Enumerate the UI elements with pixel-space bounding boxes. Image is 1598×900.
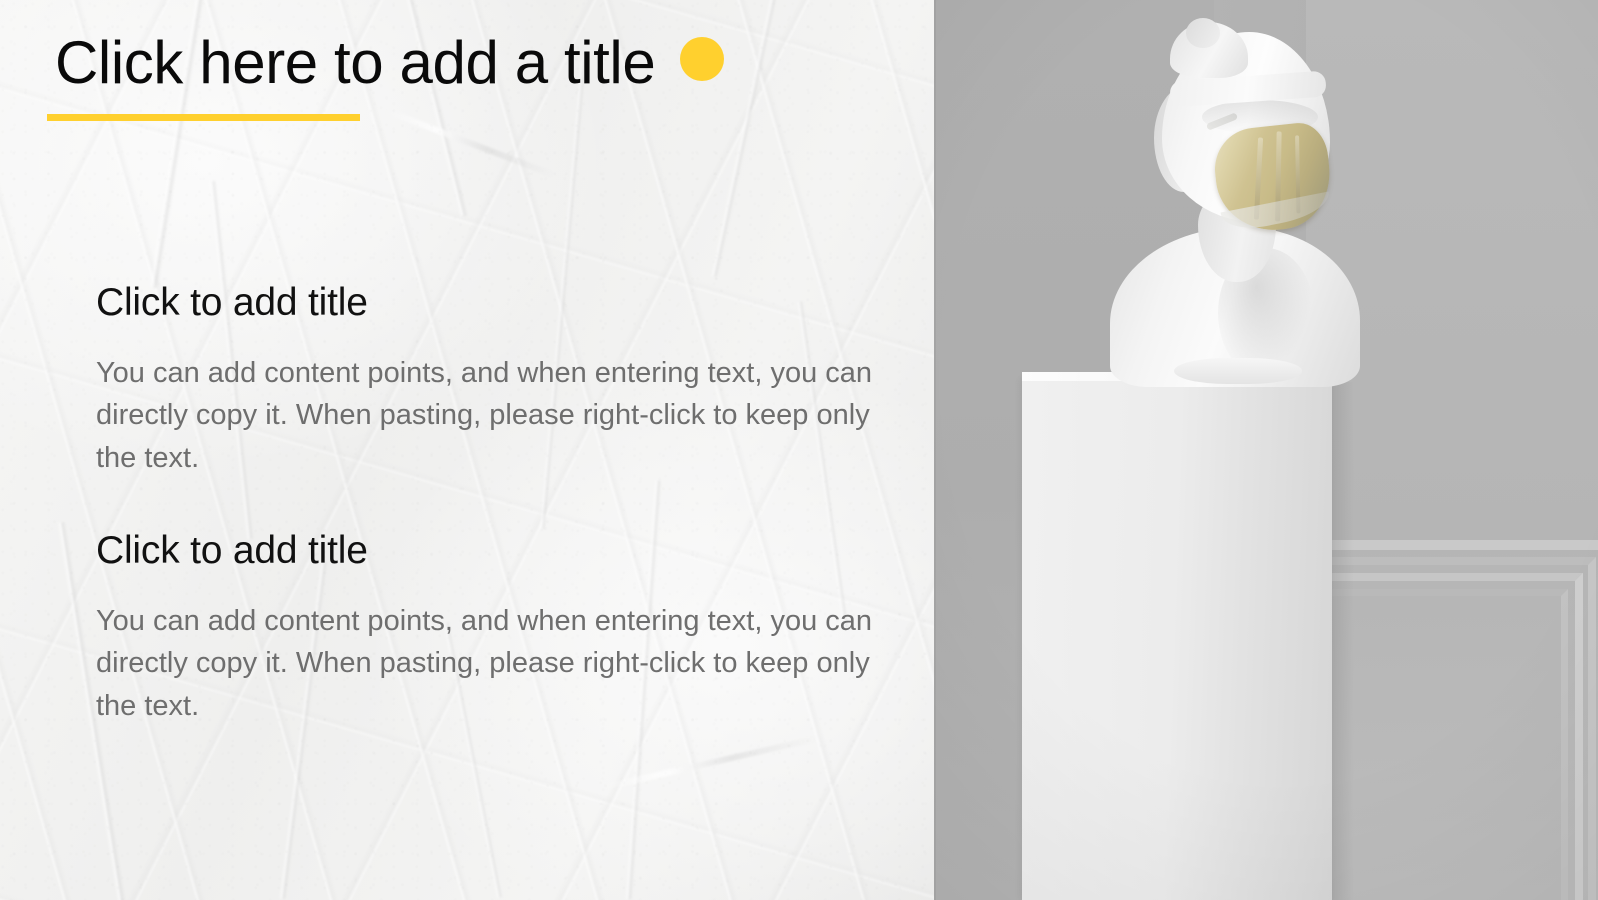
presentation-slide: Click here to add a title Click to add t… (0, 0, 1598, 900)
slide-left-panel: Click here to add a title Click to add t… (0, 0, 934, 900)
slide-image-panel (934, 0, 1598, 900)
yellow-dot-icon (680, 37, 724, 81)
title-placeholder[interactable]: Click here to add a title (55, 33, 815, 93)
content-block[interactable]: Click to add title You can add content p… (96, 531, 926, 727)
gold-face-mask (1211, 120, 1335, 235)
content-block-body[interactable]: You can add content points, and when ent… (96, 352, 916, 479)
bust-hair-knot (1186, 18, 1220, 48)
bust-base-disc (1174, 358, 1302, 384)
title-underline-accent (47, 114, 360, 121)
pedestal-plinth (1022, 378, 1332, 900)
content-placeholder-area: Click to add title You can add content p… (96, 283, 926, 727)
pedestal-cast-shadow (1332, 382, 1354, 900)
content-block[interactable]: Click to add title You can add content p… (96, 283, 926, 479)
content-block-heading[interactable]: Click to add title (96, 531, 926, 572)
panel-divider (934, 0, 936, 900)
marble-bust-statue (1110, 22, 1360, 387)
content-block-heading[interactable]: Click to add title (96, 283, 926, 324)
content-block-body[interactable]: You can add content points, and when ent… (96, 600, 916, 727)
